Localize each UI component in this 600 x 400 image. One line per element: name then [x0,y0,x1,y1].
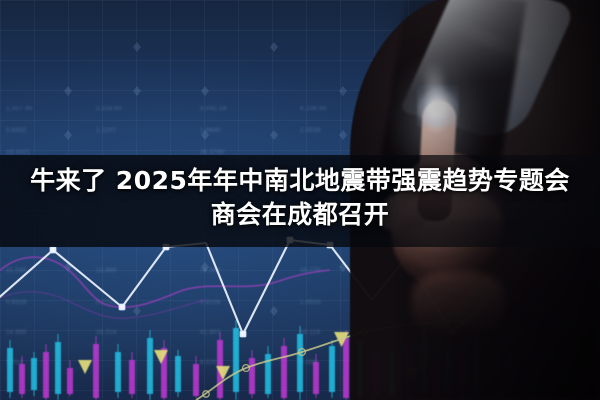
headline-line-2: 商会在成都召开 [0,198,600,232]
headline-line-1: 牛来了 2025年年中南北地震带强震趋势专题会 [0,164,600,198]
bottom-right-shadow [400,220,600,400]
banner-image: 1,327.45 2,118.60 3,042.18 4,236.90 5,10… [0,0,600,400]
headline-text: 牛来了 2025年年中南北地震带强震趋势专题会 商会在成都召开 [0,164,600,231]
